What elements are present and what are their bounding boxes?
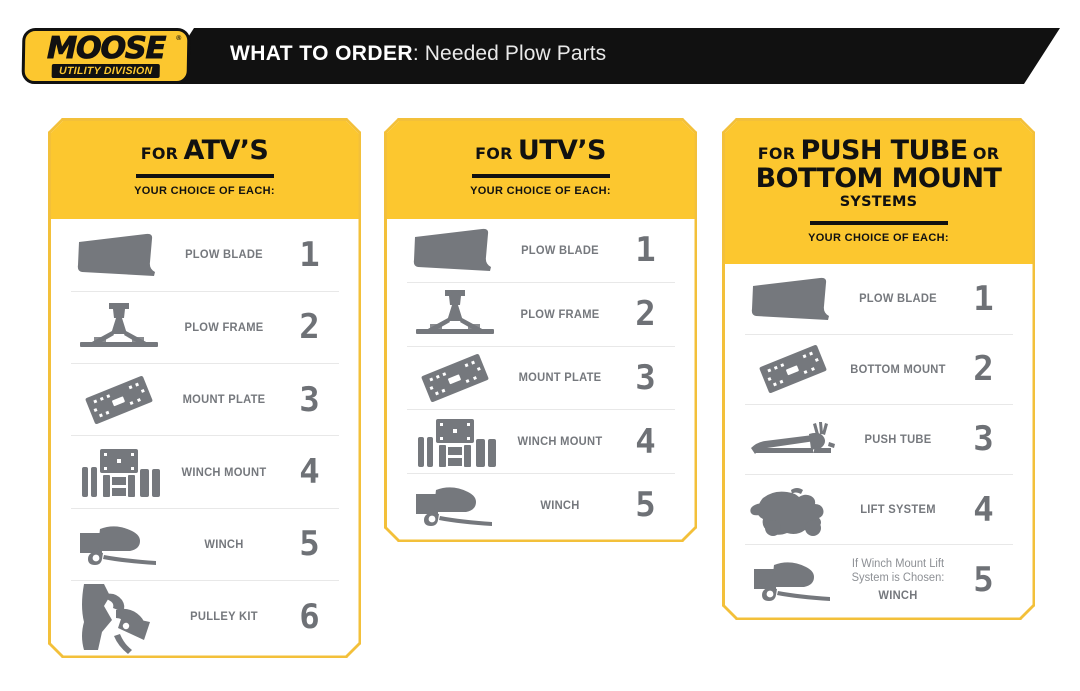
winch-mount-icon [407, 415, 503, 469]
cards-container: FOR ATV’SYOUR CHOICE OF EACH: PLOW BLADE… [0, 0, 1080, 691]
card-title-divider [472, 174, 610, 178]
part-number: 4 [281, 455, 339, 489]
part-row: WINCH MOUNT4 [407, 409, 675, 473]
card-title-divider [136, 174, 274, 178]
part-row: PLOW BLADE1 [745, 264, 1013, 334]
part-label: PLOW BLADE [844, 291, 950, 306]
push-tube-icon [745, 418, 841, 460]
part-number: 6 [281, 600, 339, 634]
part-label: PLOW FRAME [170, 320, 276, 335]
part-row: WINCH5 [71, 508, 339, 580]
part-number: 2 [617, 297, 675, 331]
part-label: WINCH [170, 537, 276, 552]
part-number: 1 [281, 238, 339, 272]
card-title-for: FOR [758, 144, 795, 163]
plow-blade-icon [745, 276, 841, 322]
card-title-line-2: BOTTOM MOUNT [725, 165, 1033, 193]
part-row: MOUNT PLATE3 [71, 363, 339, 435]
mount-plate-icon [407, 350, 503, 406]
part-number: 2 [281, 310, 339, 344]
card-title-line-1: FOR UTV’S [387, 137, 695, 165]
part-row: MOUNT PLATE3 [407, 346, 675, 410]
card-body-utv: FOR UTV’SYOUR CHOICE OF EACH: PLOW BLADE… [387, 121, 695, 540]
part-label: LIFT SYSTEM [844, 502, 950, 517]
card-utv: FOR UTV’SYOUR CHOICE OF EACH: PLOW BLADE… [384, 118, 697, 542]
part-number: 3 [955, 422, 1013, 456]
parts-list-push-tube: PLOW BLADE1 BOTTOM MOUNT2 PUSH TUBE3 LIF… [725, 264, 1033, 615]
part-number: 5 [955, 563, 1013, 597]
card-title-line-3: SYSTEMS [725, 193, 1033, 212]
winch-icon [71, 521, 167, 567]
part-label: PUSH TUBE [844, 432, 950, 447]
plow-blade-icon [407, 227, 503, 273]
bottom-mount-icon [745, 341, 841, 397]
card-title-for: FOR [475, 144, 512, 163]
card-atv: FOR ATV’SYOUR CHOICE OF EACH: PLOW BLADE… [48, 118, 361, 658]
part-number: 1 [955, 282, 1013, 316]
plow-blade-icon [71, 232, 167, 278]
part-number: 2 [955, 352, 1013, 386]
part-label: If Winch Mount Lift System is Chosen:WIN… [844, 557, 950, 603]
part-row: BOTTOM MOUNT2 [745, 334, 1013, 404]
card-title-for: FOR [141, 144, 178, 163]
parts-list-atv: PLOW BLADE1 PLOW FRAME2 MOUNT PLATE3 [51, 219, 359, 653]
pulley-kit-icon [71, 580, 167, 654]
card-title-or: OR [973, 144, 999, 163]
card-body-atv: FOR ATV’SYOUR CHOICE OF EACH: PLOW BLADE… [51, 121, 359, 656]
part-label-note: If Winch Mount Lift System is Chosen: [842, 557, 952, 586]
part-label: WINCH [506, 498, 612, 513]
card-header-atv: FOR ATV’SYOUR CHOICE OF EACH: [51, 121, 359, 219]
mount-plate-icon [71, 372, 167, 428]
card-title-line-1: FOR ATV’S [51, 137, 359, 165]
part-row: PLOW BLADE1 [407, 219, 675, 283]
part-number: 4 [617, 425, 675, 459]
card-subtitle-choice: YOUR CHOICE OF EACH: [725, 232, 1033, 255]
part-row: PUSH TUBE3 [745, 404, 1013, 474]
part-label: PLOW FRAME [506, 307, 612, 322]
part-number: 3 [281, 383, 339, 417]
part-label: WINCH MOUNT [170, 465, 276, 480]
parts-list-utv: PLOW BLADE1 PLOW FRAME2 MOUNT PLATE3 [387, 219, 695, 537]
card-title-main: ATV’S [183, 135, 268, 166]
winch-icon [745, 557, 841, 603]
part-label: WINCH MOUNT [506, 434, 612, 449]
part-row: LIFT SYSTEM4 [745, 474, 1013, 544]
card-title-main: UTV’S [518, 135, 606, 166]
part-label-text: WINCH [878, 588, 917, 602]
part-label: PULLEY KIT [170, 609, 276, 624]
card-push-tube: FOR PUSH TUBE ORBOTTOM MOUNTSYSTEMSYOUR … [722, 118, 1035, 620]
part-label: BOTTOM MOUNT [844, 362, 950, 377]
card-title-line-1: FOR PUSH TUBE OR [725, 137, 1033, 165]
part-row: PLOW BLADE1 [71, 219, 339, 291]
card-header-push-tube: FOR PUSH TUBE ORBOTTOM MOUNTSYSTEMSYOUR … [725, 121, 1033, 264]
part-number: 3 [617, 361, 675, 395]
part-label: PLOW BLADE [170, 247, 276, 262]
part-number: 5 [281, 527, 339, 561]
part-number: 1 [617, 233, 675, 267]
card-subtitle-choice: YOUR CHOICE OF EACH: [387, 185, 695, 208]
part-label: PLOW BLADE [506, 243, 612, 258]
card-body-push-tube: FOR PUSH TUBE ORBOTTOM MOUNTSYSTEMSYOUR … [725, 121, 1033, 618]
part-number: 4 [955, 493, 1013, 527]
part-row: If Winch Mount Lift System is Chosen:WIN… [745, 544, 1013, 614]
plow-frame-icon [407, 288, 503, 340]
winch-icon [407, 482, 503, 528]
part-number: 5 [617, 488, 675, 522]
part-row: WINCH5 [407, 473, 675, 537]
plow-frame-icon [71, 301, 167, 353]
card-subtitle-choice: YOUR CHOICE OF EACH: [51, 185, 359, 208]
part-row: WINCH MOUNT4 [71, 435, 339, 507]
part-row: PLOW FRAME2 [407, 282, 675, 346]
winch-mount-icon [71, 445, 167, 499]
part-row: PULLEY KIT6 [71, 580, 339, 652]
part-label: MOUNT PLATE [506, 370, 612, 385]
card-header-utv: FOR UTV’SYOUR CHOICE OF EACH: [387, 121, 695, 219]
part-label: MOUNT PLATE [170, 392, 276, 407]
card-title-divider [810, 221, 948, 225]
part-row: PLOW FRAME2 [71, 291, 339, 363]
card-title-main: PUSH TUBE [801, 135, 968, 166]
lift-system-icon [745, 484, 841, 536]
